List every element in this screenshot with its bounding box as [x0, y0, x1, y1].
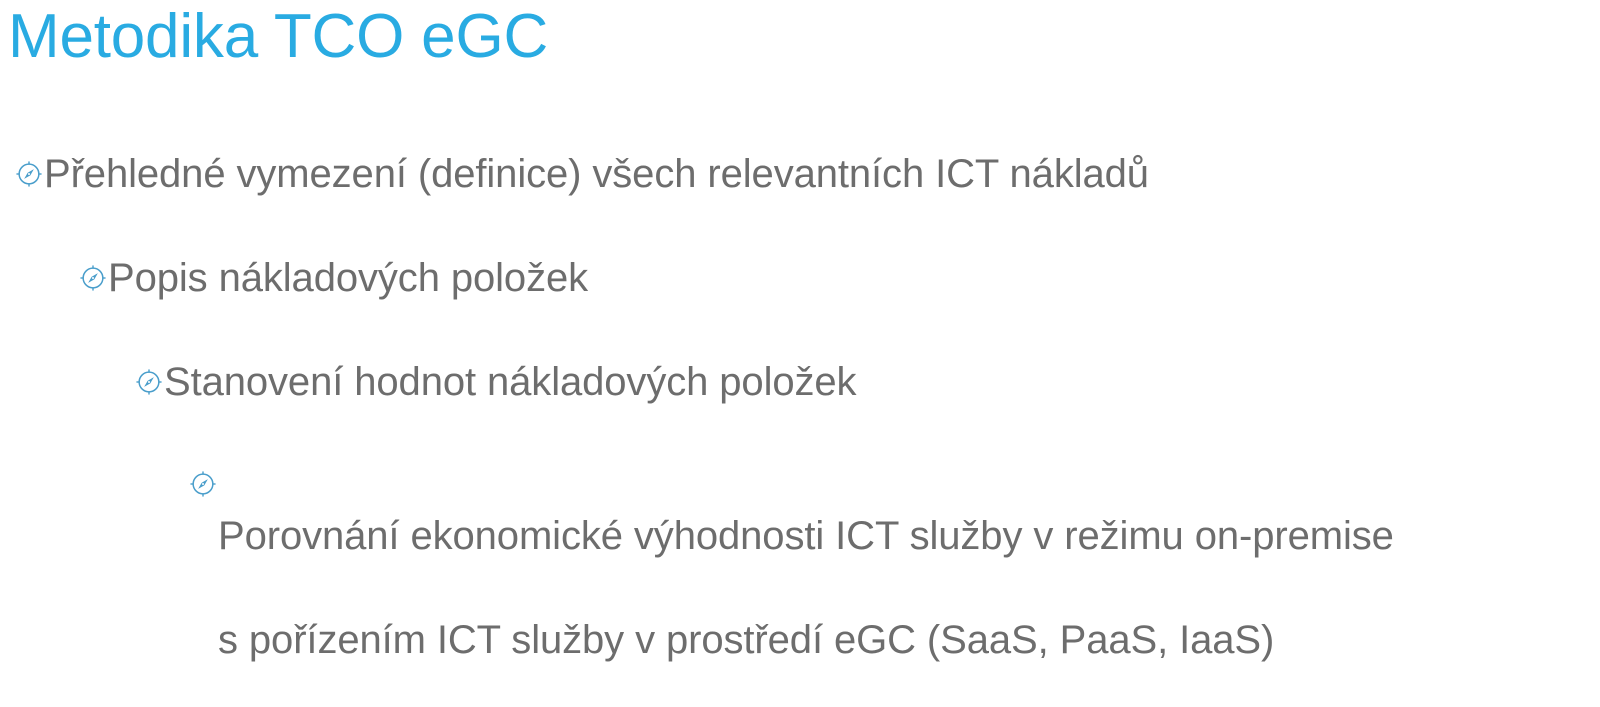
slide-canvas: Metodika TCO eGC Přehledné vymezení (def… [0, 0, 1600, 707]
list-item-label-continued: s pořízením ICT služby v prostředí eGC (… [218, 614, 1394, 666]
compass-icon [188, 469, 218, 499]
list-item-text-block: Porovnání ekonomické výhodnosti ICT služ… [218, 458, 1394, 707]
list-item-label: Přehledné vymezení (definice) všech rele… [44, 148, 1149, 200]
list-item: Porovnání ekonomické výhodnosti ICT služ… [0, 458, 1600, 707]
list-item-label: Stanovení hodnot nákladových položek [164, 356, 856, 408]
list-item: Popis nákladových položek [0, 252, 1600, 304]
bullet-list: Přehledné vymezení (definice) všech rele… [0, 148, 1600, 707]
compass-icon [134, 367, 164, 397]
list-item: Přehledné vymezení (definice) všech rele… [0, 148, 1600, 200]
list-item-label: Popis nákladových položek [108, 252, 588, 304]
compass-icon [78, 263, 108, 293]
list-item-label: Porovnání ekonomické výhodnosti ICT služ… [218, 510, 1394, 562]
list-item: Stanovení hodnot nákladových položek [0, 356, 1600, 408]
compass-icon [14, 159, 44, 189]
page-title: Metodika TCO eGC [8, 0, 548, 74]
